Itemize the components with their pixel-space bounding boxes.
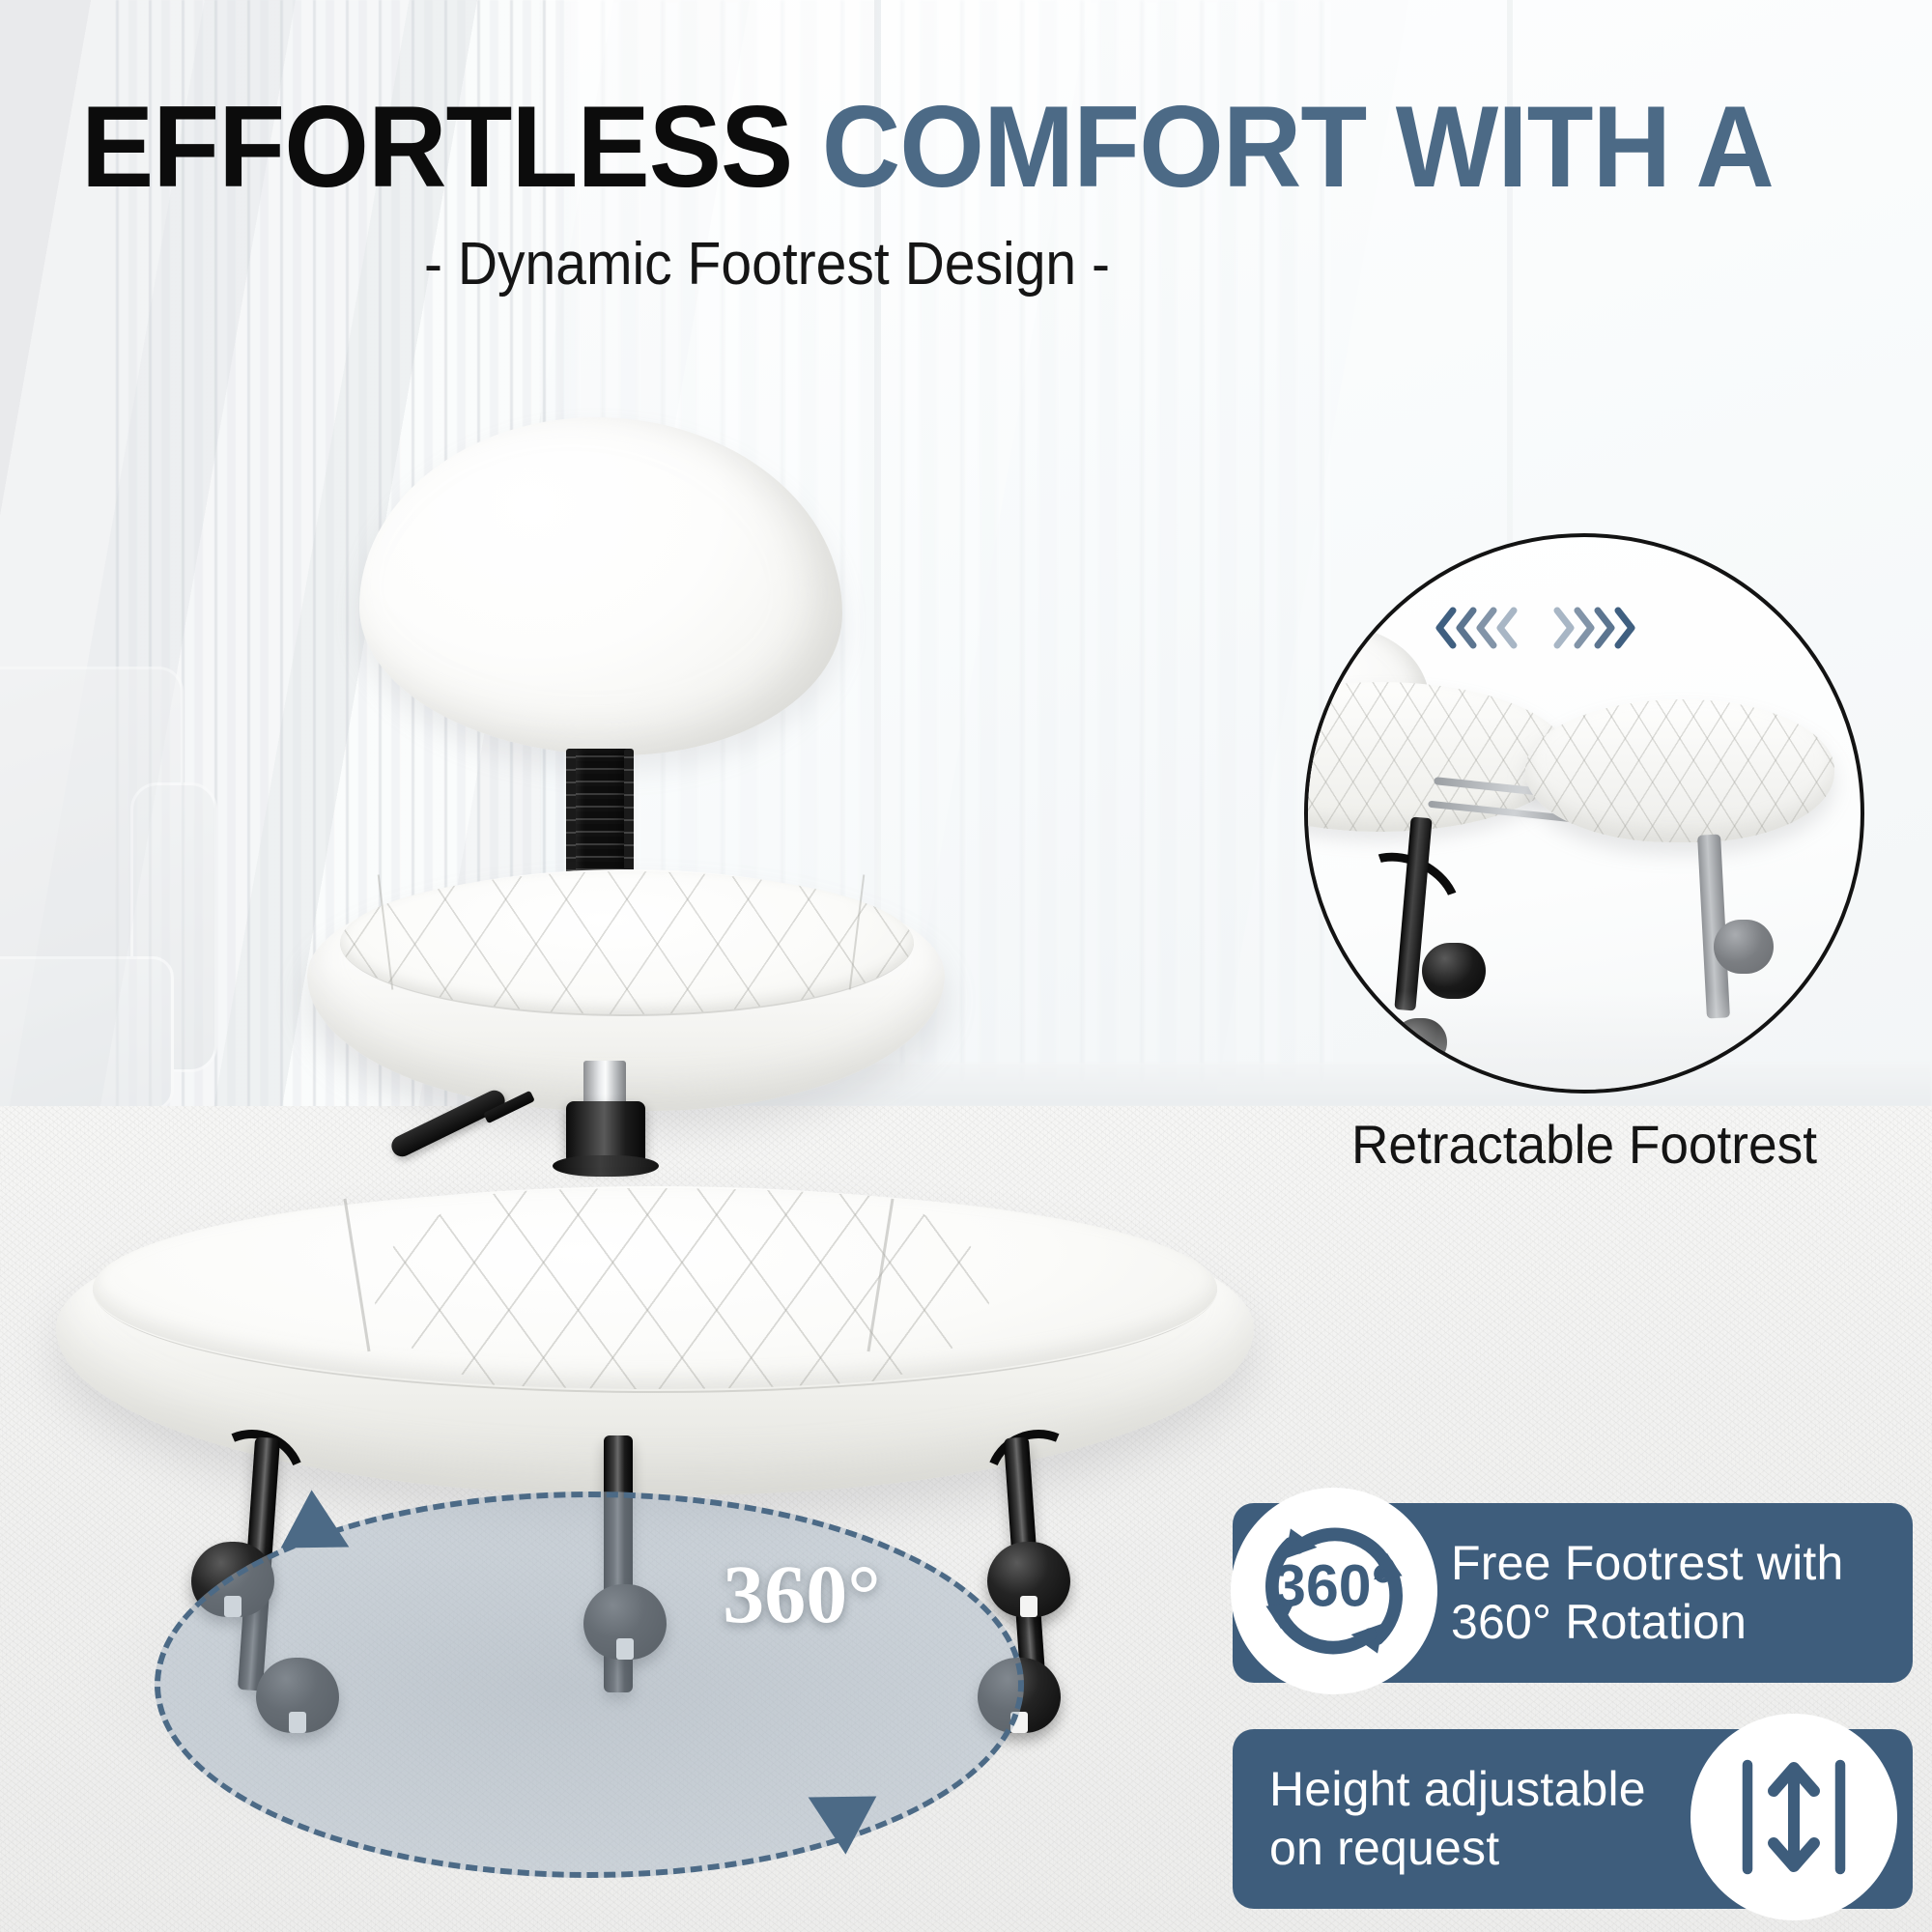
360-rotation-icon: 360° [1231, 1488, 1437, 1694]
chair-spring-post [570, 749, 630, 874]
feature-badge-rotation-line2: 360° Rotation [1451, 1593, 1844, 1652]
height-adjust-icon [1690, 1714, 1897, 1920]
retract-direction-indicator [1434, 597, 1752, 659]
feature-badge-rotation-text: Free Footrest with 360° Rotation [1451, 1534, 1844, 1652]
callout-floor [1308, 991, 1864, 1094]
svg-text:360°: 360° [1273, 1553, 1395, 1619]
feature-badge-height-line1: Height adjustable [1269, 1760, 1646, 1819]
footrest-platform-top [93, 1188, 1217, 1389]
rotation-degree-label: 360° [676, 1546, 927, 1642]
feature-badge-rotation-line1: Free Footrest with [1451, 1534, 1844, 1593]
360-rotation-glyph: 360° [1239, 1496, 1429, 1686]
callout-footrest-pad [1525, 699, 1834, 842]
chair-backrest [359, 417, 842, 755]
feature-badge-height-line2: on request [1269, 1819, 1646, 1878]
footrest-quilting-pattern [373, 1188, 991, 1389]
retractable-footrest-callout [1304, 533, 1864, 1094]
callout-footrest-quilting [1525, 699, 1834, 842]
height-adjust-glyph [1721, 1745, 1866, 1889]
caster-wheel [987, 1542, 1070, 1617]
seat-quilting-pattern [340, 871, 914, 1014]
height-adjust-lever [388, 1087, 509, 1160]
chevron-right-icon [1612, 606, 1637, 650]
chevron-left-group [1434, 606, 1515, 650]
product-marketing-image: EFFORTLESS COMFORT WITH A - Dynamic Foot… [0, 0, 1932, 1932]
callout-caption: Retractable Footrest [1300, 1113, 1869, 1176]
chevron-right-group [1551, 606, 1633, 650]
feature-badge-height-text: Height adjustable on request [1269, 1760, 1646, 1878]
callout-scene [1308, 537, 1861, 1090]
gas-lift-base [553, 1155, 659, 1177]
callout-footrest-caster [1714, 920, 1774, 974]
chevron-left-icon [1494, 606, 1520, 650]
chair-seat-top [340, 871, 914, 1014]
